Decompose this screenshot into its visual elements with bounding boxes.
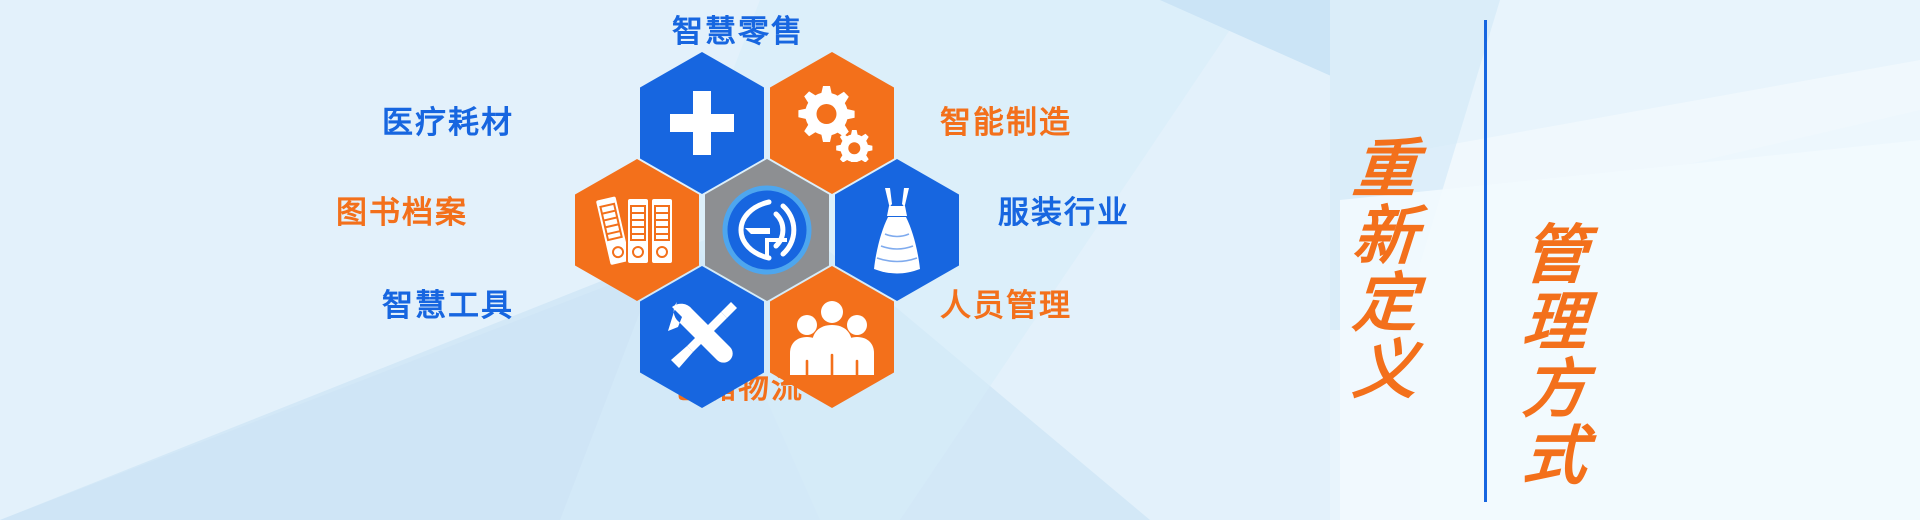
medical-cross-icon <box>666 87 738 159</box>
people-group-icon <box>790 299 874 375</box>
book-binders-icon <box>596 190 678 270</box>
calligraphy-block: 重 新 定 义 管 理 方 式 <box>1330 0 1650 520</box>
label-smart-retail: 智慧零售 <box>672 16 804 47</box>
hexagon-cluster <box>580 52 960 452</box>
gears-icon <box>790 84 874 162</box>
calligraphy-char: 定 <box>1351 270 1420 337</box>
label-library-archives: 图书档案 <box>336 197 468 228</box>
rfid-signal-logo-icon <box>721 184 813 276</box>
banner-root: 智慧零售 仓储物流 医疗耗材 智能制造 图书档案 服装行业 智慧工具 人员管理 <box>0 0 1920 520</box>
calligraphy-char: 义 <box>1351 337 1420 404</box>
label-medical-supplies: 医疗耗材 <box>382 107 514 138</box>
calligraphy-char: 重 <box>1351 136 1420 203</box>
label-smart-tools: 智慧工具 <box>382 290 514 321</box>
calligraphy-char: 方 <box>1521 356 1590 423</box>
calligraphy-char: 式 <box>1521 423 1590 490</box>
calligraphy-char: 新 <box>1351 203 1420 270</box>
calligraphy-column-left: 重 新 定 义 <box>1340 0 1430 520</box>
calligraphy-column-right: 管 理 方 式 <box>1510 0 1600 520</box>
calligraphy-char: 理 <box>1521 289 1590 356</box>
label-apparel-industry: 服装行业 <box>998 197 1130 228</box>
calligraphy-divider <box>1484 20 1487 502</box>
calligraphy-char: 管 <box>1521 222 1590 289</box>
dress-icon <box>861 186 933 274</box>
wrench-screwdriver-icon <box>661 296 743 378</box>
